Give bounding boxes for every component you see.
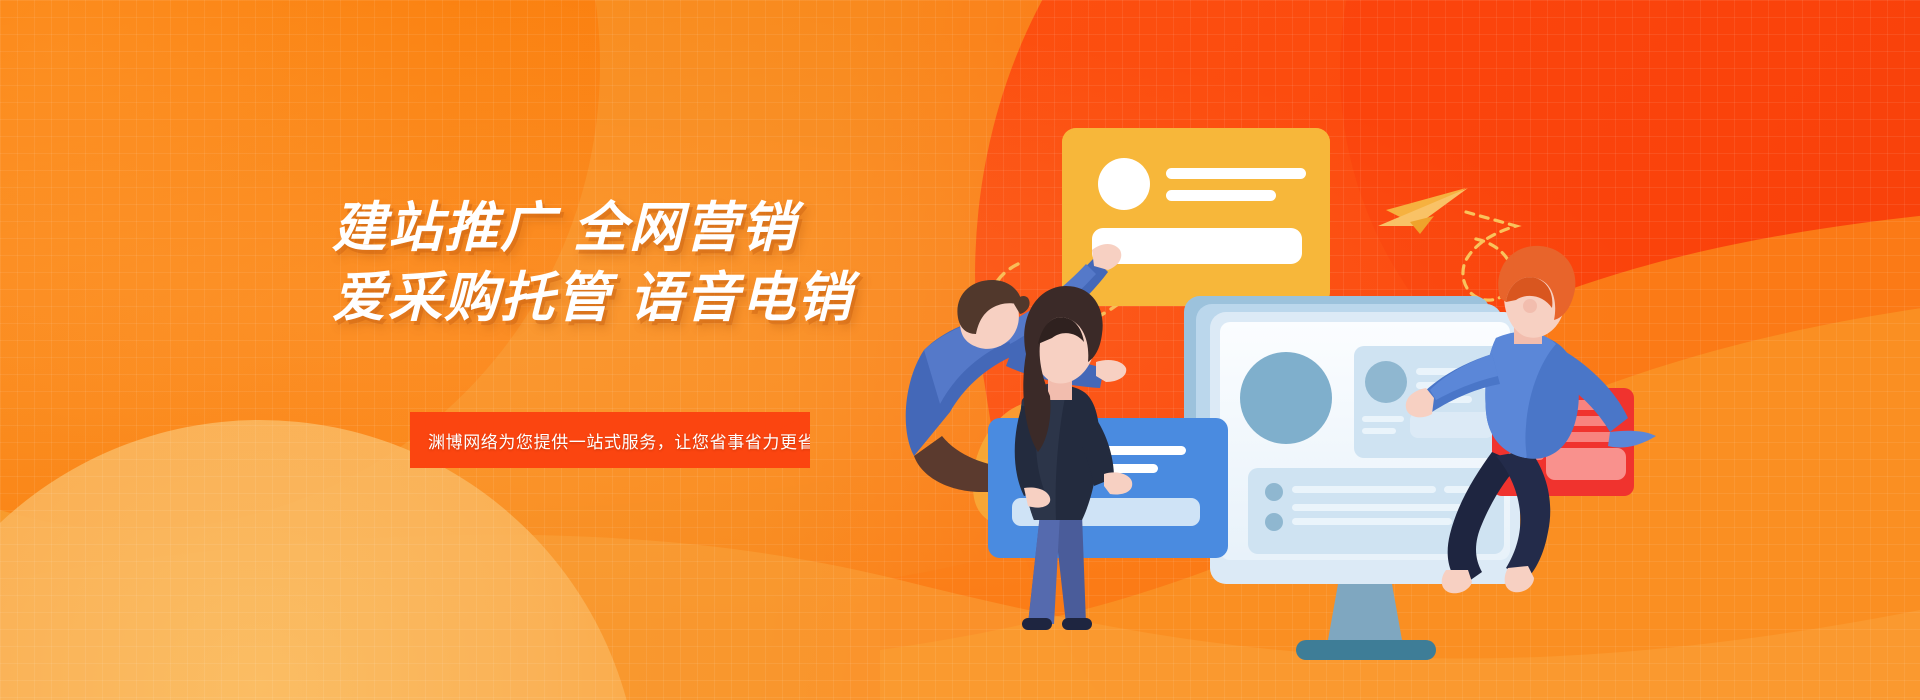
headline-line-1: 建站推广 全网营销 (332, 196, 972, 260)
monitor-screen (1184, 296, 1520, 660)
tagline-ribbon: 渊博网络为您提供一站式服务，让您省事省力更省心 (410, 412, 810, 468)
promo-banner: 建站推广 全网营销 爱采购托管 语音电销 渊博网络为您提供一站式服务，让您省事省… (0, 0, 1920, 700)
copy-block: 建站推广 全网营销 爱采购托管 语音电销 渊博网络为您提供一站式服务，让您省事省… (332, 196, 972, 330)
ribbon-text: 渊博网络为您提供一站式服务，让您省事省力更省心 (410, 428, 833, 453)
paper-plane-icon (1378, 188, 1468, 234)
hero-illustration (1110, 100, 1810, 620)
headline-line-2: 爱采购托管 语音电销 (332, 266, 972, 330)
